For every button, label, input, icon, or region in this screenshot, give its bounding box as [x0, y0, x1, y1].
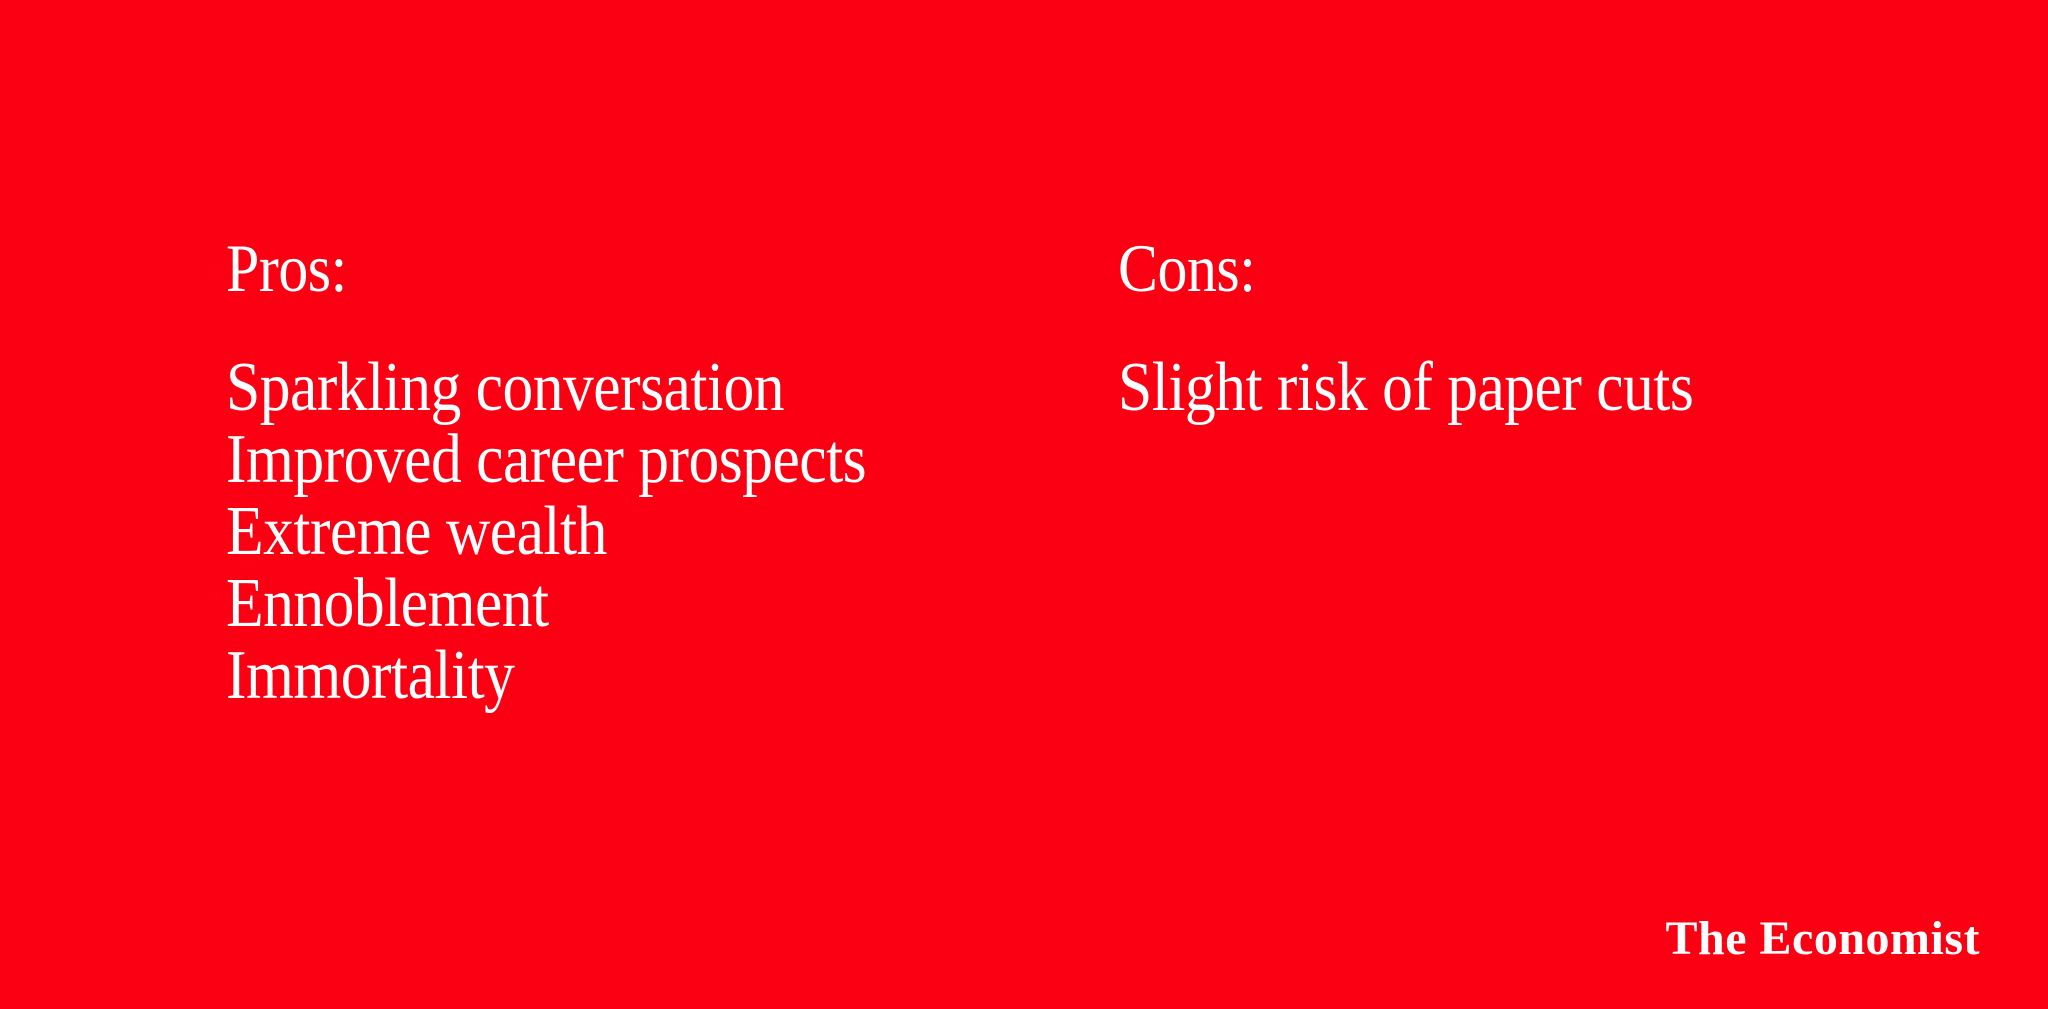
list-item: Ennoblement: [226, 568, 1011, 640]
cons-column: Cons: Slight risk of paper cuts: [1118, 232, 1986, 424]
pros-heading: Pros:: [226, 232, 1011, 304]
pros-list: Sparkling conversation Improved career p…: [226, 352, 1118, 712]
pros-column: Pros: Sparkling conversation Improved ca…: [226, 232, 1118, 712]
cons-heading: Cons:: [1118, 232, 1882, 304]
cons-list: Slight risk of paper cuts: [1118, 352, 1986, 424]
slide-canvas: Pros: Sparkling conversation Improved ca…: [0, 0, 2048, 1009]
list-item: Slight risk of paper cuts: [1118, 352, 1882, 424]
list-item: Extreme wealth: [226, 496, 1011, 568]
list-item: Immortality: [226, 640, 1011, 712]
economist-logo: The Economist: [1665, 913, 1980, 965]
pros-cons-columns: Pros: Sparkling conversation Improved ca…: [226, 232, 1986, 712]
list-item: Improved career prospects: [226, 424, 1011, 496]
list-item: Sparkling conversation: [226, 352, 1011, 424]
